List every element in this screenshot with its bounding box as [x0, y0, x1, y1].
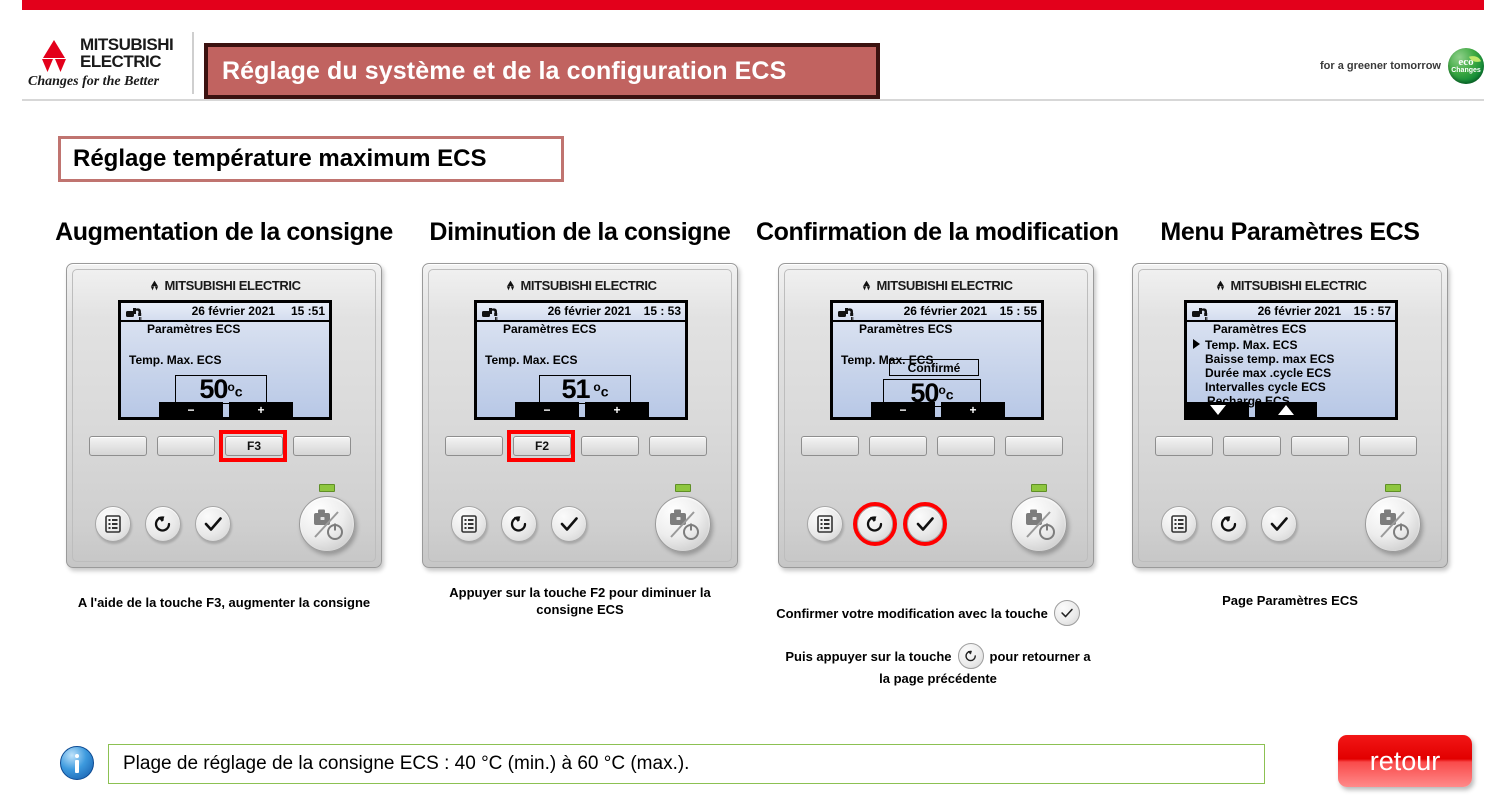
function-key-f3[interactable] — [937, 436, 995, 456]
logo-wordmark: MITSUBISHI ELECTRIC — [80, 36, 173, 70]
device-brand: MITSUBISHI ELECTRIC — [1133, 278, 1447, 293]
lcd-value-box: 51 oc — [539, 375, 631, 404]
lcd-status-bar: 26 février 2021 15 : 55 — [833, 303, 1041, 322]
list-item[interactable]: Durée max .cycle ECS — [1193, 366, 1391, 380]
mitsubishi-diamond-icon — [503, 279, 518, 290]
function-key-f2[interactable] — [1223, 436, 1281, 456]
lcd-softkey-minus: − — [515, 402, 579, 417]
highlight-f2 — [507, 430, 575, 462]
lcd-screen: 26 février 2021 15 : 57 Paramètres ECS T… — [1184, 300, 1398, 420]
faucet-icon — [1191, 305, 1213, 321]
info-text: Plage de réglage de la consigne ECS : 40… — [109, 753, 689, 775]
logo-tagline: Changes for the Better — [28, 74, 159, 90]
section-heading: Réglage température maximum ECS — [61, 145, 486, 173]
function-key-f2[interactable] — [157, 436, 215, 456]
device-brand-text: MITSUBISHI ELECTRIC — [520, 278, 656, 293]
function-key-f3[interactable] — [581, 436, 639, 456]
mitsubishi-diamond-icon — [32, 38, 76, 74]
menu-button[interactable] — [1161, 506, 1197, 542]
eco-changes-logo: for a greener tomorrow eco Changes — [1320, 48, 1484, 84]
highlight-f3 — [219, 430, 287, 462]
list-item[interactable]: Intervalles cycle ECS — [1193, 380, 1391, 394]
list-item-label: Temp. Max. ECS — [1205, 338, 1297, 352]
function-key-f4[interactable] — [293, 436, 351, 456]
panel-title: Augmentation de la consigne — [44, 218, 404, 247]
power-led-indicator — [319, 484, 335, 492]
lcd-date: 26 février 2021 — [548, 304, 631, 318]
logo-word-line2: ELECTRIC — [80, 53, 173, 70]
lcd-softkey-row: − + — [159, 402, 299, 417]
menu-button[interactable] — [807, 506, 843, 542]
page-title-banner: Réglage du système et de la configuratio… — [204, 43, 880, 99]
confirm-button[interactable] — [195, 506, 231, 542]
lcd-breadcrumb: Paramètres ECS — [503, 322, 596, 336]
caption-line-2: consigne ECS — [400, 601, 760, 618]
faucet-icon — [125, 305, 147, 321]
caption-return-after: pour retourner a — [990, 647, 1091, 666]
header-divider — [192, 32, 194, 94]
lcd-screen: 26 février 2021 15 : 53 Paramètres ECS T… — [474, 300, 688, 420]
lcd-screen: 26 février 2021 15 :51 Paramètres ECS Te… — [118, 300, 332, 420]
lcd-softkey-plus: + — [941, 402, 1005, 417]
lcd-breadcrumb: Paramètres ECS — [859, 322, 952, 336]
header-rule — [22, 99, 1484, 101]
strip-cap-right — [1484, 0, 1506, 10]
lcd-value: 50 — [199, 376, 227, 403]
power-led-indicator — [1385, 484, 1401, 492]
confirm-check-icon — [1054, 600, 1080, 626]
panel-caption: Page Paramètres ECS — [1110, 592, 1470, 609]
chevron-up-icon — [1278, 405, 1294, 415]
lcd-unit: oc — [590, 380, 609, 400]
panel-caption-return: Puis appuyer sur la touche pour retourne… — [748, 643, 1128, 688]
lcd-confirm-badge: Confirmé — [889, 359, 979, 376]
lcd-parameter-label: Temp. Max. ECS — [485, 353, 577, 367]
eco-badge-line2: Changes — [1448, 67, 1484, 75]
controller-device: MITSUBISHI ELECTRIC 26 février 2021 15 :… — [1132, 263, 1448, 568]
lcd-softkey-plus: + — [585, 402, 649, 417]
scroll-down-softkey[interactable] — [1187, 402, 1249, 417]
chevron-down-icon — [1210, 405, 1226, 415]
highlight-back-button — [853, 502, 897, 546]
lcd-status-bar: 26 février 2021 15 : 57 — [1187, 303, 1395, 322]
controller-device: MITSUBISHI ELECTRIC 26 février 2021 15 :… — [66, 263, 382, 568]
selection-pointer-icon — [1193, 339, 1200, 349]
function-key-row: F2 — [441, 430, 721, 456]
lcd-time: 15 : 57 — [1354, 304, 1391, 318]
panel-title: Confirmation de la modification — [756, 218, 1116, 247]
lcd-softkey-row: − + — [515, 402, 655, 417]
panel-caption-confirm: Confirmer votre modification avec la tou… — [748, 600, 1108, 626]
device-brand: MITSUBISHI ELECTRIC — [423, 278, 737, 293]
lcd-breadcrumb: Paramètres ECS — [1213, 322, 1306, 336]
section-heading-box: Réglage température maximum ECS — [58, 136, 564, 182]
eco-badge-icon: eco Changes — [1448, 48, 1484, 84]
lcd-unit: oc — [938, 383, 953, 403]
retour-button[interactable]: retour — [1338, 735, 1472, 787]
eco-tagline: for a greener tomorrow — [1320, 60, 1441, 72]
lcd-time: 15 : 55 — [1000, 304, 1037, 318]
list-item-label: Intervalles cycle ECS — [1205, 380, 1326, 394]
function-key-row: F3 — [85, 430, 365, 456]
info-icon — [60, 746, 94, 780]
power-mode-button[interactable] — [655, 496, 711, 552]
lcd-softkey-minus: − — [159, 402, 223, 417]
confirm-button[interactable] — [1261, 506, 1297, 542]
lcd-softkey-row: − + — [871, 402, 1011, 417]
power-mode-button[interactable] — [299, 496, 355, 552]
caption-return-line2: la page précédente — [748, 669, 1128, 688]
lcd-screen: 26 février 2021 15 : 55 Paramètres ECS T… — [830, 300, 1044, 420]
lcd-status-bar: 26 février 2021 15 : 53 — [477, 303, 685, 322]
mitsubishi-diamond-icon — [859, 279, 874, 290]
power-mode-button[interactable] — [1365, 496, 1421, 552]
lcd-date: 26 février 2021 — [904, 304, 987, 318]
menu-button[interactable] — [95, 506, 131, 542]
lcd-softkey-plus: + — [229, 402, 293, 417]
mitsubishi-electric-logo: MITSUBISHI ELECTRIC Changes for the Bett… — [26, 34, 186, 96]
device-brand: MITSUBISHI ELECTRIC — [67, 278, 381, 293]
device-brand-text: MITSUBISHI ELECTRIC — [1230, 278, 1366, 293]
back-button[interactable] — [145, 506, 181, 542]
caption-return-before: Puis appuyer sur la touche — [785, 647, 951, 666]
panel-diminution: Diminution de la consigne MITSUBISHI ELE… — [400, 218, 760, 568]
lcd-value-box: 50oc — [175, 375, 267, 404]
panel-augmentation: Augmentation de la consigne MITSUBISHI E… — [44, 218, 404, 568]
menu-button[interactable] — [451, 506, 487, 542]
faucet-icon — [481, 305, 503, 321]
lcd-time: 15 :51 — [291, 304, 325, 318]
scroll-up-softkey[interactable] — [1255, 402, 1317, 417]
lcd-value: 51 — [561, 376, 589, 403]
faucet-icon — [837, 305, 859, 321]
mitsubishi-diamond-icon — [1213, 279, 1228, 290]
back-button[interactable] — [1211, 506, 1247, 542]
info-icon-stem — [75, 760, 79, 773]
list-item[interactable]: Baisse temp. max ECS — [1193, 352, 1391, 366]
controller-device: MITSUBISHI ELECTRIC 26 février 2021 15 :… — [422, 263, 738, 568]
lcd-scroll-softkeys — [1187, 402, 1323, 417]
lcd-date: 26 février 2021 — [192, 304, 275, 318]
page-title: Réglage du système et de la configuratio… — [208, 57, 786, 86]
power-led-indicator — [675, 484, 691, 492]
device-brand: MITSUBISHI ELECTRIC — [779, 278, 1093, 293]
lcd-breadcrumb: Paramètres ECS — [147, 322, 240, 336]
power-mode-button[interactable] — [1011, 496, 1067, 552]
function-key-f1[interactable] — [89, 436, 147, 456]
panel-caption: Appuyer sur la touche F2 pour diminuer l… — [400, 584, 760, 618]
caption-line-1: Appuyer sur la touche F2 pour diminuer l… — [400, 584, 760, 601]
info-icon-dot — [75, 754, 79, 758]
panel-title: Diminution de la consigne — [400, 218, 760, 247]
device-brand-text: MITSUBISHI ELECTRIC — [164, 278, 300, 293]
lcd-menu-list: Temp. Max. ECS Baisse temp. max ECS Duré… — [1193, 338, 1391, 408]
info-banner: Plage de réglage de la consigne ECS : 40… — [108, 744, 1265, 784]
function-key-f1[interactable] — [1155, 436, 1213, 456]
back-arrow-icon — [958, 643, 984, 669]
function-key-f4[interactable] — [1359, 436, 1417, 456]
function-key-row — [797, 430, 1077, 456]
lcd-status-bar: 26 février 2021 15 :51 — [121, 303, 329, 322]
panel-menu-parametres: Menu Paramètres ECS MITSUBISHI ELECTRIC … — [1110, 218, 1470, 568]
page-header: MITSUBISHI ELECTRIC Changes for the Bett… — [0, 10, 1506, 100]
function-key-f1[interactable] — [801, 436, 859, 456]
retour-button-label: retour — [1370, 746, 1441, 777]
controller-device: MITSUBISHI ELECTRIC 26 février 2021 15 :… — [778, 263, 1094, 568]
strip-cap-left — [0, 0, 22, 10]
confirm-button[interactable] — [551, 506, 587, 542]
back-button[interactable] — [501, 506, 537, 542]
brand-accent-strip — [0, 0, 1506, 10]
function-key-f3[interactable] — [1291, 436, 1349, 456]
function-key-f4[interactable] — [1005, 436, 1063, 456]
panel-caption: A l'aide de la touche F3, augmenter la c… — [44, 594, 404, 611]
function-key-f4[interactable] — [649, 436, 707, 456]
panel-title: Menu Paramètres ECS — [1110, 218, 1470, 247]
list-item-label: Baisse temp. max ECS — [1205, 352, 1334, 366]
power-led-indicator — [1031, 484, 1047, 492]
panel-confirmation: Confirmation de la modification MITSUBIS… — [756, 218, 1116, 568]
highlight-confirm-button — [903, 502, 947, 546]
mitsubishi-diamond-icon — [147, 279, 162, 290]
lcd-parameter-label: Temp. Max. ECS — [129, 353, 221, 367]
logo-word-line1: MITSUBISHI — [80, 36, 173, 53]
lcd-time: 15 : 53 — [644, 304, 681, 318]
device-brand-text: MITSUBISHI ELECTRIC — [876, 278, 1012, 293]
caption-confirm-text: Confirmer votre modification avec la tou… — [776, 605, 1048, 622]
list-item[interactable]: Temp. Max. ECS — [1193, 338, 1391, 352]
lcd-softkey-minus: − — [871, 402, 935, 417]
function-key-f2[interactable] — [869, 436, 927, 456]
list-item-label: Durée max .cycle ECS — [1205, 366, 1331, 380]
function-key-f1[interactable] — [445, 436, 503, 456]
function-key-row — [1151, 430, 1431, 456]
lcd-unit: oc — [227, 380, 242, 400]
lcd-date: 26 février 2021 — [1258, 304, 1341, 318]
